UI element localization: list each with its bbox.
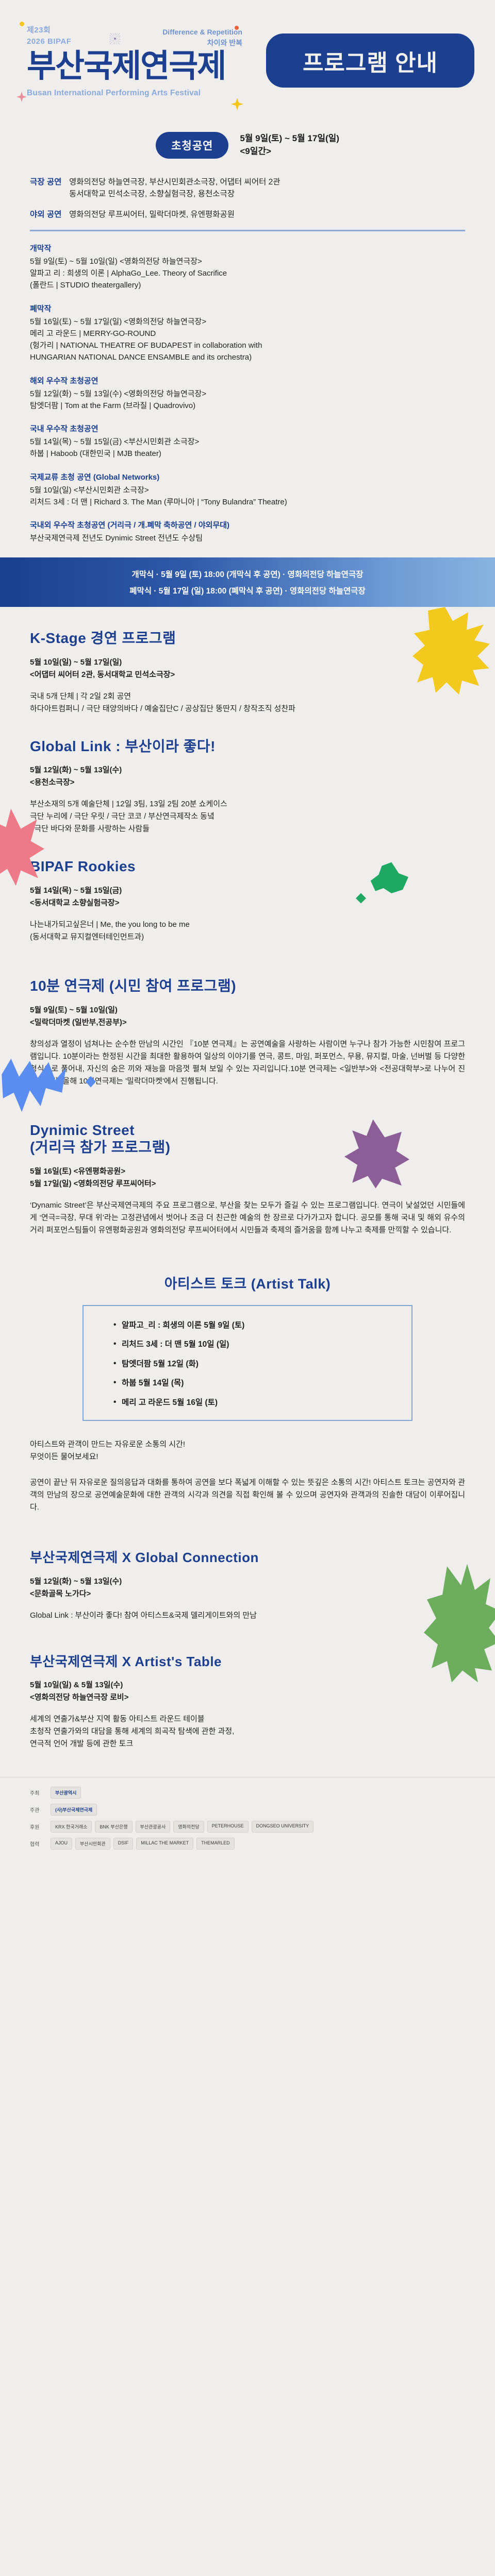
festival-title-ko: 부산국제연극제 — [27, 50, 225, 82]
block-line: 5월 10일(일) <부산시민회관 소극장> — [30, 484, 465, 496]
footer-label: 주관 — [30, 1806, 43, 1814]
invitation-header: 초청공연 5월 9일(토) ~ 5월 17일(일) <9일간> — [0, 113, 495, 159]
program-body-line: 나는내가되고싶은너 | Me, the you long to be me — [30, 919, 465, 931]
poster-footer: 주최 부산광역시 주관 (사)부산국제연극제 후원 KRX 한국거래소 BNK … — [0, 1777, 495, 1868]
program-block-global-networks: 국제교류 초청 공연 (Global Networks) 5월 10일(일) <… — [30, 471, 465, 509]
block-heading: 개막작 — [30, 243, 465, 253]
program-date-line: 5월 17일(일) <영화의전당 루프씨어터> — [30, 1178, 465, 1190]
section-k-stage: K-Stage 경연 프로그램 5월 10일(일) ~ 5월 17일(일) <어… — [30, 607, 465, 715]
program-title-line: (거리극 참가 프로그램) — [30, 1139, 465, 1156]
program-dates: 5월 12일(화) ~ 5월 13일(수) <용천소극장> — [30, 764, 465, 789]
pink-star-icon — [16, 92, 27, 102]
block-line: 부산국제연극제 전년도 Dynimic Street 전년도 수상팀 — [30, 532, 465, 544]
program-body-line: 부산소재의 5개 예술단체 | 12일 3팀, 13일 2팀 20분 쇼케이스 — [30, 798, 465, 810]
footer-row-support: 후원 KRX 한국거래소 BNK 부산은행 부산관광공사 영화의전당 PETER… — [30, 1821, 465, 1833]
program-date-line: <영화의전당 하늘연극장 로비> — [30, 1691, 465, 1704]
program-body: 부산소재의 5개 예술단체 | 12일 3팀, 13일 2팀 20분 쇼케이스 … — [30, 798, 465, 835]
sponsor-logo: 영화의전당 — [173, 1821, 204, 1833]
program-body-line: 세계의 연출가&부산 지역 활동 아티스트 라운드 테이블 — [30, 1713, 465, 1725]
venue-label: 야외 공연 — [30, 209, 69, 221]
block-heading: 국제교류 초청 공연 (Global Networks) — [30, 471, 465, 482]
program-block-street: 국내외 우수작 초청공연 (거리극 / 개.폐막 축하공연 / 야외무대) 부산… — [30, 519, 465, 544]
festival-theme: Difference & Repetition 차이와 반복 — [150, 27, 242, 48]
program-dates: 5월 14일(목) ~ 5월 15일(금) <동서대학교 소향실험극장> — [30, 885, 465, 909]
poster-page: 제23회 2026 BIPAF 부산국제연극제 Busan Internatio… — [0, 0, 495, 1868]
invitation-section: 초청공연 5월 9일(토) ~ 5월 17일(일) <9일간> 극장 공연 영화… — [0, 113, 495, 607]
poster-header: 제23회 2026 BIPAF 부산국제연극제 Busan Internatio… — [0, 0, 495, 113]
invitation-date-range: 5월 9일(토) ~ 5월 17일(일) — [240, 132, 339, 145]
program-body: 나는내가되고싶은너 | Me, the you long to be me (동… — [30, 919, 465, 943]
program-description: 창의성과 열정이 넘쳐나는 순수한 만남의 시간인 『10분 연극제』는 공연예… — [30, 1038, 465, 1088]
artist-talk-list: 알파고_리 : 희생의 이론 5월 9일 (토) 리처드 3세 : 더 맨 5월… — [84, 1321, 411, 1407]
block-line: 5월 14일(목) ~ 5월 15일(금) <부산시민회관 소극장> — [30, 436, 465, 448]
sponsor-logo: DONGSEO UNIVERSITY — [252, 1821, 314, 1833]
program-body: 국내 5개 단체 | 각 2일 2회 공연 하다아트컴퍼니 / 극단 태양의바다… — [30, 690, 465, 715]
program-body: 세계의 연출가&부산 지역 활동 아티스트 라운드 테이블 초청작 연출가와의 … — [30, 1713, 465, 1750]
artist-talk-lead-line: 아티스트와 관객이 만드는 자유로운 소통의 시간! — [30, 1438, 465, 1451]
sponsor-logo: AJOU — [51, 1838, 72, 1850]
footer-logos: KRX 한국거래소 BNK 부산은행 부산관광공사 영화의전당 PETERHOU… — [51, 1821, 313, 1833]
block-line: 5월 16일(토) ~ 5월 17일(일) <영화의전당 하늘연극장> — [30, 316, 465, 328]
program-body-line: 국내 5개 단체 | 각 2일 2회 공연 — [30, 690, 465, 703]
program-date-line: 5월 12일(화) ~ 5월 13일(수) — [30, 764, 465, 776]
block-line: 메리 고 라운드 | MERRY-GO-ROUND — [30, 328, 465, 340]
program-body-line: Global Link : 부산이라 좋다! 참여 아티스트&국제 델리게이트와… — [30, 1609, 465, 1622]
program-title: BIPAF Rookies — [30, 858, 465, 875]
sponsor-logo: MILLAC THE MARKET — [136, 1838, 193, 1850]
program-title: 10분 연극제 (시민 참여 프로그램) — [30, 977, 465, 995]
sponsor-logo: KRX 한국거래소 — [51, 1821, 92, 1833]
program-title: K-Stage 경연 프로그램 — [30, 630, 465, 647]
sponsor-logo: 부산광역시 — [51, 1787, 81, 1799]
artist-talk-description: 공연이 끝난 뒤 자유로운 질의응답과 대화를 통하여 공연을 보다 폭넓게 이… — [30, 1477, 465, 1514]
program-dates: 5월 9일(토) ~ 5월 10일(일) <밀락더마켓 (일반부,전공부)> — [30, 1004, 465, 1029]
venue-line: 영화의전당 하늘연극장, 부산시민회관소극장, 어댑터 씨어터 2관 — [69, 176, 280, 188]
program-block-opening: 개막작 5월 9일(토) ~ 5월 10일(일) <영화의전당 하늘연극장> 알… — [30, 243, 465, 292]
venue-line: 영화의전당 루프씨어터, 밀락더마켓, 유엔평화공원 — [69, 209, 235, 221]
invitation-pill-label: 초청공연 — [171, 140, 213, 152]
program-date-line: <문화골목 노가다> — [30, 1588, 465, 1600]
section-artists-table: 부산국제연극제 X Artist's Table 5월 10일(일) & 5월 … — [30, 1622, 465, 1750]
section-artist-talk: 아티스트 토크 (Artist Talk) 알파고_리 : 희생의 이론 5월 … — [30, 1236, 465, 1514]
venue-value: 영화의전당 루프씨어터, 밀락더마켓, 유엔평화공원 — [69, 209, 235, 221]
footer-row-organizer: 주관 (사)부산국제연극제 — [30, 1804, 465, 1816]
block-line: 5월 12일(화) ~ 5월 13일(수) <영화의전당 하늘연극장> — [30, 388, 465, 400]
program-date-line: 5월 16일(토) <유엔평화공원> — [30, 1165, 465, 1178]
block-line: 알파고 리 : 희생의 이론 | AlphaGo_Lee. Theory of … — [30, 267, 465, 279]
block-line: 리처드 3세 : 더 맨 | Richard 3. The Man (루마니아 … — [30, 496, 465, 508]
program-title: Global Link : 부산이라 좋다! — [30, 738, 465, 755]
program-date-line: <동서대학교 소향실험극장> — [30, 897, 465, 909]
ceremony-closing: 폐막식 · 5월 17일 (일) 18:00 (폐막식 후 공연) · 영화의전… — [129, 585, 366, 596]
artist-talk-schedule-box: 알파고_리 : 희생의 이론 5월 9일 (토) 리처드 3세 : 더 맨 5월… — [82, 1305, 412, 1421]
program-description: ‘Dynamic Street’은 부산국제연극제의 주요 프로그램으로, 부산… — [30, 1199, 465, 1236]
program-dates: 5월 16일(토) <유엔평화공원> 5월 17일(일) <영화의전당 루프씨어… — [30, 1165, 465, 1190]
sponsor-logo: 부산관광공사 — [136, 1821, 171, 1833]
footer-row-host: 주최 부산광역시 — [30, 1787, 465, 1799]
artist-talk-title: 아티스트 토크 (Artist Talk) — [30, 1273, 465, 1293]
venue-line: 동서대학교 민석소극장, 소향실험극장, 용천소극장 — [69, 188, 280, 200]
block-line: (폴란드 | STUDIO theatergallery) — [30, 279, 465, 291]
invitation-duration: <9일간> — [240, 145, 339, 158]
program-block-closing: 폐막작 5월 16일(토) ~ 5월 17일(일) <영화의전당 하늘연극장> … — [30, 303, 465, 364]
program-block-domestic: 국내 우수작 초청공연 5월 14일(목) ~ 5월 15일(금) <부산시민회… — [30, 423, 465, 460]
program-dates: 5월 10일(일) ~ 5월 17일(일) <어댑터 씨어터 2관, 동서대학교… — [30, 656, 465, 681]
section-global-link: Global Link : 부산이라 좋다! 5월 12일(화) ~ 5월 13… — [30, 715, 465, 836]
program-date-line: 5월 9일(토) ~ 5월 10일(일) — [30, 1004, 465, 1016]
program-block-overseas: 해외 우수작 초청공연 5월 12일(화) ~ 5월 13일(수) <영화의전당… — [30, 375, 465, 412]
theme-en: Difference & Repetition — [150, 27, 242, 38]
program-title-line: Dynimic Street — [30, 1122, 465, 1139]
artist-talk-lead: 아티스트와 관객이 만드는 자유로운 소통의 시간! 무엇이든 물어보세요! — [30, 1438, 465, 1463]
program-body-line: 연극적 언어 개발 등에 관한 토크 — [30, 1738, 465, 1750]
venue-row: 야외 공연 영화의전당 루프씨어터, 밀락더마켓, 유엔평화공원 — [30, 209, 495, 221]
block-line: HUNGARIAN NATIONAL DANCE ENSAMBLE and it… — [30, 351, 465, 363]
program-guide-badge: 프로그램 안내 — [266, 33, 474, 88]
program-date-line: 5월 10일(일) ~ 5월 17일(일) — [30, 656, 465, 669]
footer-label: 주최 — [30, 1789, 43, 1797]
invitation-pill: 초청공연 — [156, 132, 228, 159]
program-title: Dynimic Street (거리극 참가 프로그램) — [30, 1122, 465, 1156]
section-dynimic-street: Dynimic Street (거리극 참가 프로그램) 5월 16일(토) <… — [30, 1088, 465, 1236]
list-item: 하붑 5월 14일 (목) — [122, 1379, 411, 1387]
invitation-dates: 5월 9일(토) ~ 5월 17일(일) <9일간> — [240, 132, 339, 158]
program-date-line: <용천소극장> — [30, 776, 465, 789]
program-title: 부산국제연극제 X Global Connection — [30, 1550, 465, 1566]
block-line: (헝가리 | NATIONAL THEATRE OF BUDAPEST in c… — [30, 340, 465, 351]
venue-list: 극장 공연 영화의전당 하늘연극장, 부산시민회관소극장, 어댑터 씨어터 2관… — [30, 176, 495, 221]
program-body-line: 극단 누리에 / 극단 우릿 / 극단 코코 / 부산연극제작소 동녘 — [30, 810, 465, 823]
yellow-dot-icon — [20, 22, 24, 26]
footer-logos: 부산광역시 — [51, 1787, 81, 1799]
venue-value: 영화의전당 하늘연극장, 부산시민회관소극장, 어댑터 씨어터 2관 동서대학교… — [69, 176, 280, 200]
venue-label: 극장 공연 — [30, 176, 69, 200]
program-dates: 5월 10일(일) & 5월 13일(수) <영화의전당 하늘연극장 로비> — [30, 1679, 465, 1704]
sponsor-logo: 부산시민회관 — [75, 1838, 110, 1850]
block-heading: 해외 우수작 초청공연 — [30, 375, 465, 386]
list-item: 탐엣더팜 5월 12일 (화) — [122, 1360, 411, 1368]
sponsor-logo: PETERHOUSE — [207, 1821, 249, 1833]
program-date-line: 5월 12일(화) ~ 5월 13일(수) — [30, 1575, 465, 1588]
ceremony-band: 개막식 · 5월 9일 (토) 18:00 (개막식 후 공연) · 영화의전당… — [0, 557, 495, 607]
program-body-line: / 극단 바다와 문화를 사랑하는 사람들 — [30, 823, 465, 835]
theme-ko: 차이와 반복 — [150, 38, 242, 48]
block-line: 하붑 | Haboob (대한민국 | MJB theater) — [30, 448, 465, 460]
festival-title-en: Busan International Performing Arts Fest… — [27, 89, 225, 98]
program-body-line: 하다아트컴퍼니 / 극단 태양의바다 / 예술집단C / 공상집단 뚱딴지 / … — [30, 703, 465, 715]
section-ten-minute-theater: 10분 연극제 (시민 참여 프로그램) 5월 9일(토) ~ 5월 10일(일… — [30, 943, 465, 1088]
footer-label: 후원 — [30, 1823, 43, 1831]
sponsor-logo: DSIF — [113, 1838, 134, 1850]
program-body: Global Link : 부산이라 좋다! 참여 아티스트&국제 델리게이트와… — [30, 1609, 465, 1622]
list-item: 메리 고 라운드 5월 16일 (토) — [122, 1399, 411, 1407]
footer-logos: (사)부산국제연극제 — [51, 1804, 97, 1816]
block-line: 5월 9일(토) ~ 5월 10일(일) <영화의전당 하늘연극장> — [30, 256, 465, 267]
sponsor-logo: (사)부산국제연극제 — [51, 1804, 97, 1816]
list-item: 알파고_리 : 희생의 이론 5월 9일 (토) — [122, 1321, 411, 1330]
program-date-line: <밀락더마켓 (일반부,전공부)> — [30, 1016, 465, 1029]
list-item: 리처드 3세 : 더 맨 5월 10일 (일) — [122, 1341, 411, 1349]
block-heading: 국내외 우수작 초청공연 (거리극 / 개.폐막 축하공연 / 야외무대) — [30, 519, 465, 530]
block-heading: 폐막작 — [30, 303, 465, 314]
footer-label: 협력 — [30, 1840, 43, 1848]
sponsor-logo: BNK 부산은행 — [95, 1821, 132, 1833]
program-date-line: 5월 14일(목) ~ 5월 15일(금) — [30, 885, 465, 897]
footer-logos: AJOU 부산시민회관 DSIF MILLAC THE MARKET THEMA… — [51, 1838, 235, 1850]
program-title: 부산국제연극제 X Artist's Table — [30, 1654, 465, 1670]
yellow-burst-icon — [412, 607, 490, 694]
section-global-connection: 부산국제연극제 X Global Connection 5월 12일(화) ~ … — [30, 1514, 465, 1621]
program-body-line: 초청작 연출가와의 대담을 통해 세계의 희곡작 탐색에 관한 과정, — [30, 1725, 465, 1738]
divider — [30, 230, 465, 231]
block-line: 탐엣더팜 | Tom at the Farm (브라질 | Quadrovivo… — [30, 400, 465, 412]
section-bipaf-rookies: BIPAF Rookies 5월 14일(목) ~ 5월 15일(금) <동서대… — [30, 835, 465, 943]
block-heading: 국내 우수작 초청공연 — [30, 423, 465, 434]
ceremony-opening: 개막식 · 5월 9일 (토) 18:00 (개막식 후 공연) · 영화의전당… — [132, 568, 364, 580]
program-dates: 5월 12일(화) ~ 5월 13일(수) <문화골목 노가다> — [30, 1575, 465, 1600]
artist-talk-lead-line: 무엇이든 물어보세요! — [30, 1451, 465, 1463]
program-body-line: (동서대학교 뮤지컬엔터테인먼트과) — [30, 931, 465, 943]
program-date-line: <어댑터 씨어터 2관, 동서대학교 민석소극장> — [30, 669, 465, 681]
venue-row: 극장 공연 영화의전당 하늘연극장, 부산시민회관소극장, 어댑터 씨어터 2관… — [30, 176, 495, 200]
program-guide-label: 프로그램 안내 — [303, 44, 438, 77]
footer-row-partner: 협력 AJOU 부산시민회관 DSIF MILLAC THE MARKET TH… — [30, 1838, 465, 1850]
program-date-line: 5월 10일(일) & 5월 13일(수) — [30, 1679, 465, 1691]
sponsor-logo: THEMARLED — [196, 1838, 235, 1850]
yellow-star-icon — [231, 98, 243, 110]
